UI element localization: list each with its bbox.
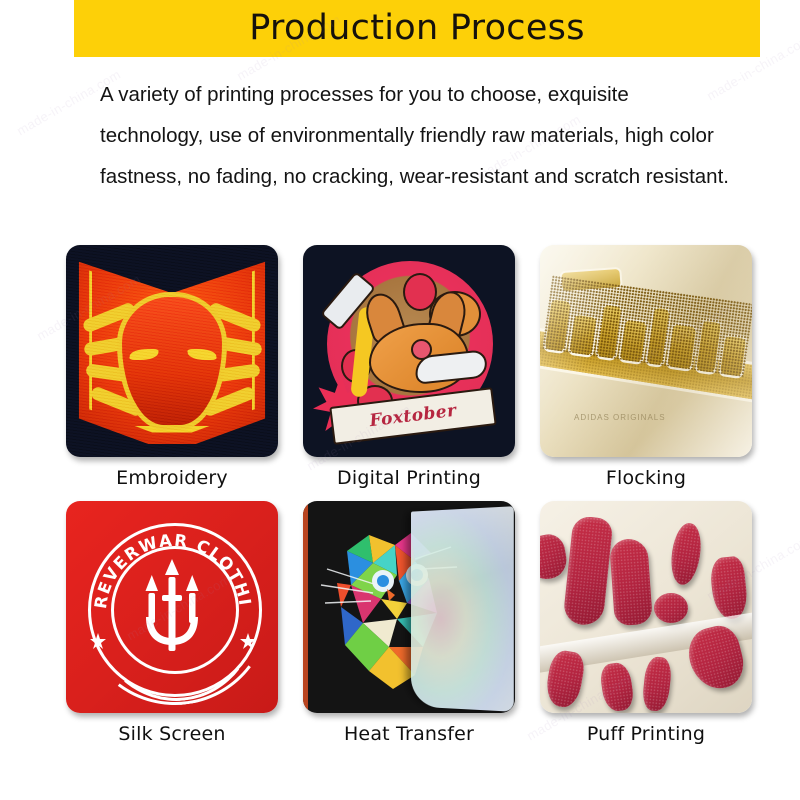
foxtober-ribbon-text: Foxtober bbox=[368, 401, 457, 432]
puff-fabric-texture bbox=[540, 532, 570, 582]
grid-item-embroidery[interactable]: Embroidery bbox=[66, 245, 278, 489]
puff-fabric-texture bbox=[562, 515, 613, 627]
flocking-small-text: ADIDAS ORIGINALS bbox=[574, 413, 666, 422]
grid-item-digital-printing[interactable]: Foxtober Digital Printing bbox=[303, 245, 515, 489]
puff-fabric-texture bbox=[654, 593, 688, 623]
fox-eye-icon bbox=[411, 339, 432, 360]
shirt-edge-highlight bbox=[303, 501, 308, 713]
grid-item-silk-screen[interactable]: FOREVERWAR CLOTHING bbox=[66, 501, 278, 745]
puff-fabric-texture bbox=[609, 538, 653, 626]
heat-transfer-film-sheet[interactable] bbox=[411, 506, 514, 712]
puff-letter-shape bbox=[683, 622, 748, 695]
grid-item-caption: Puff Printing bbox=[540, 723, 752, 745]
flock-letter bbox=[721, 336, 747, 376]
grid-item-puff-printing[interactable]: Puff Printing bbox=[540, 501, 752, 745]
grid-item-caption: Digital Printing bbox=[303, 467, 515, 489]
puff-letter-shape bbox=[654, 593, 688, 623]
puff-letter-shape bbox=[709, 555, 749, 620]
puff-letter-shape bbox=[562, 515, 613, 627]
puff-fabric-texture bbox=[668, 521, 704, 586]
puff-letter-shape bbox=[599, 661, 635, 713]
puff-letter-shape bbox=[641, 656, 673, 712]
silk-star-icon bbox=[90, 633, 106, 649]
grid-item-caption: Embroidery bbox=[66, 467, 278, 489]
stitch-texture-overlay bbox=[66, 245, 278, 457]
grid-item-caption: Silk Screen bbox=[66, 723, 278, 745]
puff-fabric-texture bbox=[641, 656, 673, 712]
puff-letter-shape bbox=[609, 538, 653, 626]
grid-item-flocking[interactable]: ADIDAS ORIGINALS Flocking bbox=[540, 245, 752, 489]
embroidery-patch-photo[interactable] bbox=[66, 245, 278, 457]
flocking-gold-letters-photo[interactable]: ADIDAS ORIGINALS bbox=[540, 245, 752, 457]
grid-item-heat-transfer[interactable]: Heat Transfer bbox=[303, 501, 515, 745]
heat-transfer-cat-photo[interactable] bbox=[303, 501, 515, 713]
puff-fabric-texture bbox=[683, 622, 748, 695]
puff-letter-shape bbox=[543, 648, 586, 709]
apple-icon bbox=[403, 273, 437, 311]
silk-screen-trident-logo-photo[interactable]: FOREVERWAR CLOTHING bbox=[66, 501, 278, 713]
film-iridescent-sheen bbox=[411, 506, 514, 712]
silk-star-icon bbox=[240, 633, 256, 649]
page-title: Production Process bbox=[249, 11, 585, 46]
puff-printing-letters-photo[interactable] bbox=[540, 501, 752, 713]
puff-letter-shape bbox=[540, 532, 570, 582]
puff-letter-shape bbox=[668, 521, 704, 586]
intro-paragraph: A variety of printing processes for you … bbox=[100, 74, 730, 197]
grid-item-caption: Flocking bbox=[540, 467, 752, 489]
intro-block: A variety of printing processes for you … bbox=[100, 74, 730, 197]
puff-fabric-texture bbox=[543, 648, 586, 709]
page-header-banner: Production Process bbox=[74, 0, 760, 57]
process-grid: Embroidery Foxtober Digital Printing bbox=[66, 245, 756, 745]
digital-printing-foxtober-photo[interactable]: Foxtober bbox=[303, 245, 515, 457]
grid-item-caption: Heat Transfer bbox=[303, 723, 515, 745]
trident-icon bbox=[144, 559, 200, 659]
puff-fabric-texture bbox=[709, 555, 749, 620]
puff-fabric-texture bbox=[599, 661, 635, 713]
